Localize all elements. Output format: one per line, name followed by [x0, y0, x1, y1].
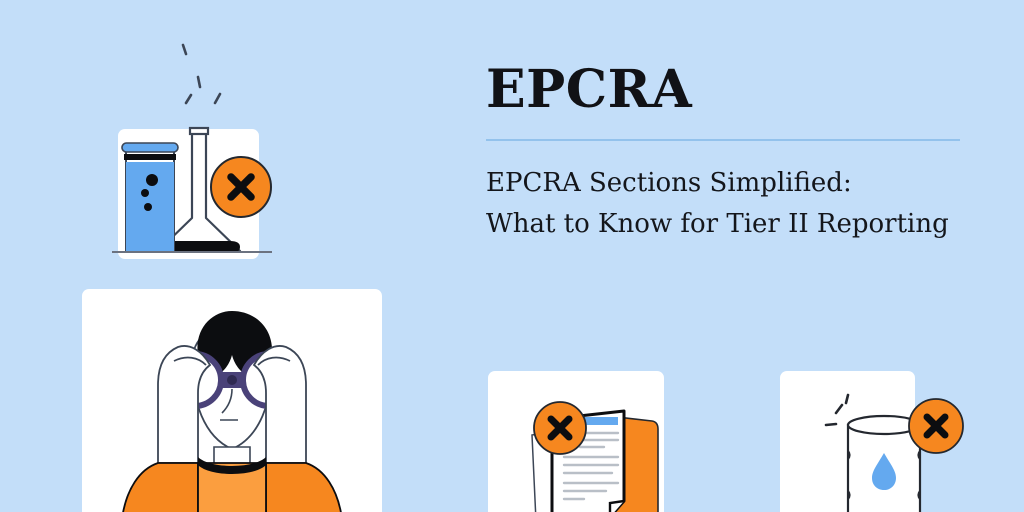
drum-rim [848, 416, 920, 434]
orange-folder [592, 415, 658, 512]
header-text-block: EPCRA EPCRA Sections Simplified: What to… [486, 62, 966, 245]
drum-body [848, 416, 920, 512]
vapor-marks [183, 45, 220, 103]
document-report-illustration [488, 371, 664, 512]
document-card [488, 371, 664, 512]
x-mark-icon [534, 402, 586, 454]
blue-heading-bar [576, 417, 618, 425]
text-lines [560, 433, 618, 499]
flask [158, 128, 240, 253]
water-droplet [872, 453, 896, 490]
face [192, 311, 272, 449]
drum-card [780, 371, 915, 512]
title-divider [486, 139, 960, 141]
orange-shirt [122, 457, 342, 512]
page-title: EPCRA [486, 62, 966, 118]
person-card [82, 289, 382, 512]
bubble-large [146, 174, 158, 186]
spark-marks [826, 395, 848, 425]
neck-and-collar [214, 447, 250, 467]
beaker [122, 143, 178, 251]
x-mark-icon [909, 399, 963, 453]
poster-canvas: EPCRA EPCRA Sections Simplified: What to… [0, 0, 1024, 512]
page-subtitle: EPCRA Sections Simplified: What to Know … [486, 163, 966, 245]
binoculars [169, 354, 295, 406]
hair-back [258, 349, 292, 505]
bubble-small [144, 203, 152, 211]
chemical-hazard-illustration [90, 29, 350, 279]
chemicals-card [118, 129, 259, 259]
hair-front [197, 311, 272, 375]
back-sheet [532, 423, 606, 512]
chemical-drum-illustration [780, 371, 960, 512]
bubble-medium [141, 189, 149, 197]
front-sheet [552, 411, 624, 512]
hands [158, 346, 306, 463]
person-with-binoculars-illustration [82, 289, 382, 512]
x-mark-icon [211, 157, 271, 217]
